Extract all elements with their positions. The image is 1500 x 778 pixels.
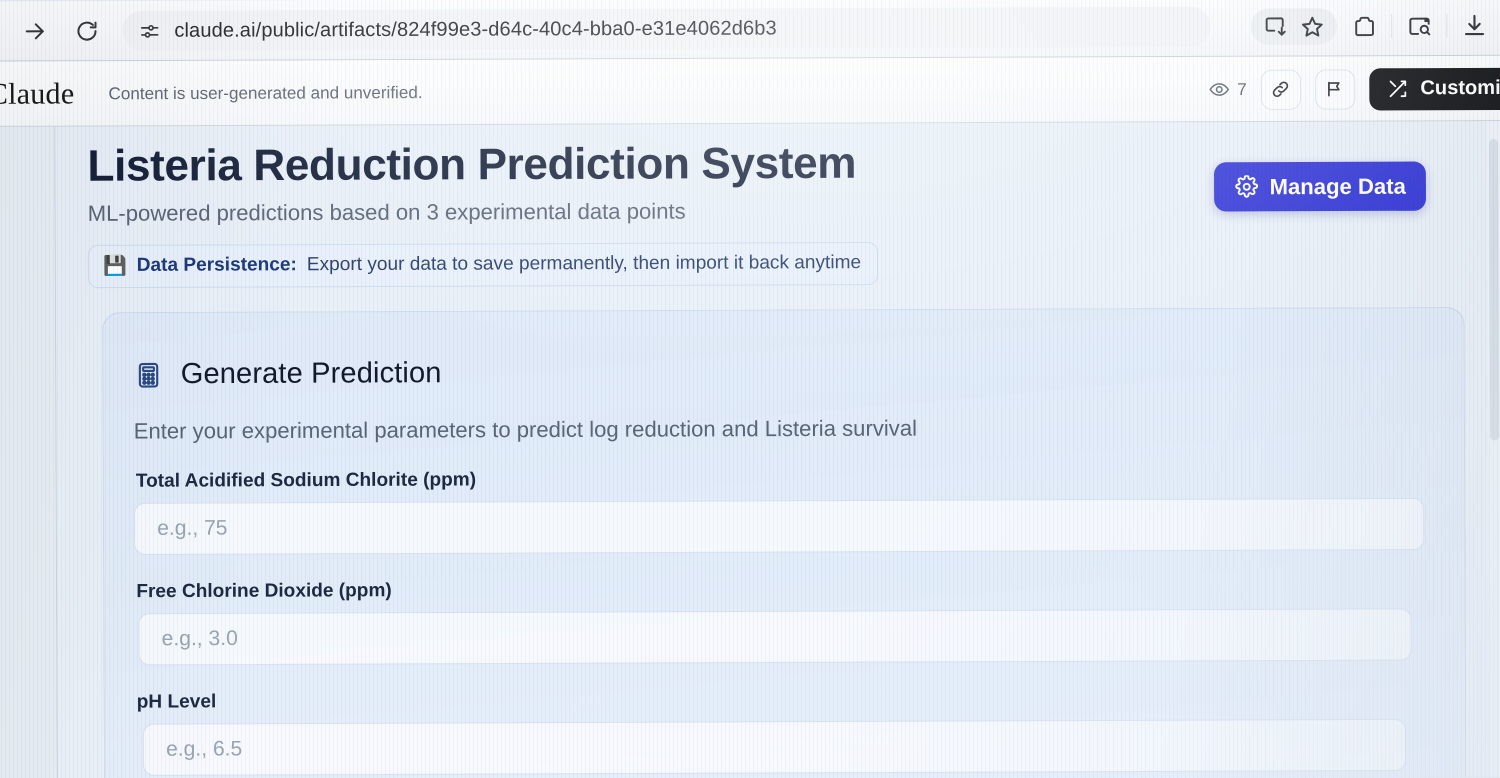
- link-icon: [1270, 78, 1292, 100]
- manage-data-button[interactable]: Manage Data: [1214, 162, 1426, 212]
- downloads-icon[interactable]: [1461, 13, 1487, 39]
- field-label: Total Acidified Sodium Chlorite (ppm): [136, 466, 1424, 493]
- install-app-icon[interactable]: [1263, 13, 1289, 39]
- data-persistence-banner: 💾 Data Persistence: Export your data to …: [88, 242, 878, 288]
- artifact-scrollbar-thumb[interactable]: [1489, 139, 1499, 440]
- remix-shuffle-icon: [1387, 78, 1409, 100]
- artifact-page-header: Claude Content is user-generated and unv…: [0, 56, 1500, 127]
- customize-button-label: Customize: [1420, 77, 1500, 100]
- customize-button[interactable]: Customize: [1369, 67, 1500, 110]
- flag-icon: [1324, 78, 1346, 100]
- free-chlorine-dioxide-input[interactable]: [138, 608, 1411, 665]
- field-ph-level: pH Level: [135, 687, 1425, 776]
- artifact-scrollbar[interactable]: [1487, 121, 1500, 777]
- address-bar[interactable]: claude.ai/public/artifacts/824f99e3-d64c…: [122, 7, 1210, 51]
- copy-link-button[interactable]: [1261, 69, 1301, 109]
- gear-icon: [1234, 175, 1258, 199]
- browser-toolbar: claude.ai/public/artifacts/824f99e3-d64c…: [0, 0, 1500, 62]
- field-total-acidified-sodium-chlorite: Total Acidified Sodium Chlorite (ppm): [134, 466, 1424, 555]
- forward-arrow-icon[interactable]: [22, 18, 48, 44]
- view-count: 7: [1208, 78, 1247, 100]
- data-persistence-text: Export your data to save permanently, th…: [307, 252, 861, 276]
- toolbar-divider: [1391, 14, 1392, 38]
- manage-data-button-label: Manage Data: [1270, 173, 1406, 200]
- report-button[interactable]: [1315, 69, 1355, 109]
- eye-icon: [1208, 78, 1230, 100]
- field-label: Free Chlorine Dioxide (ppm): [136, 576, 1424, 603]
- field-free-chlorine-dioxide: Free Chlorine Dioxide (ppm): [134, 576, 1424, 665]
- browser-toolbar-actions: [1250, 0, 1493, 57]
- search-page-icon[interactable]: [1406, 13, 1432, 39]
- artifact-header-actions: 7 Customize: [1208, 56, 1500, 122]
- artifact-viewport: Listeria Reduction Prediction System ML-…: [54, 121, 1500, 778]
- browser-nav-icons: [0, 18, 100, 45]
- claude-brand-wordmark[interactable]: Claude: [0, 77, 74, 111]
- bookmark-star-icon[interactable]: [1299, 13, 1325, 39]
- field-label: pH Level: [137, 687, 1425, 714]
- view-count-value: 7: [1237, 79, 1247, 99]
- photographed-monitor: claude.ai/public/artifacts/824f99e3-d64c…: [0, 0, 1500, 778]
- omnibox-action-group: [1251, 8, 1337, 44]
- card-title: Generate Prediction: [181, 357, 442, 391]
- data-persistence-label: Data Persistence:: [137, 254, 297, 277]
- calculator-icon: [133, 360, 163, 390]
- ph-level-input[interactable]: [143, 719, 1406, 776]
- artifact-page: Listeria Reduction Prediction System ML-…: [54, 121, 1462, 288]
- site-settings-icon[interactable]: [138, 20, 160, 42]
- card-header: Generate Prediction: [133, 353, 1423, 391]
- reload-icon[interactable]: [74, 18, 100, 44]
- card-description: Enter your experimental parameters to pr…: [134, 414, 1424, 445]
- toolbar-divider-2: [1446, 14, 1447, 38]
- generate-prediction-card: Generate Prediction Enter your experimen…: [102, 307, 1467, 778]
- total-acidified-sodium-chlorite-input[interactable]: [134, 498, 1424, 555]
- extensions-icon[interactable]: [1351, 13, 1377, 39]
- floppy-disk-icon: 💾: [103, 256, 127, 275]
- address-bar-url: claude.ai/public/artifacts/824f99e3-d64c…: [174, 17, 777, 42]
- content-disclaimer: Content is user-generated and unverified…: [108, 83, 422, 104]
